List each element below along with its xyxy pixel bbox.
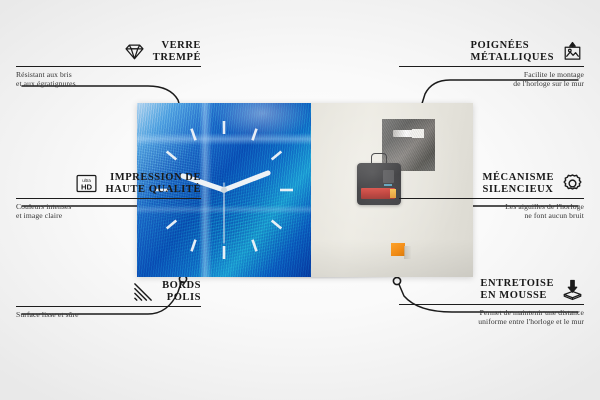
diamond-icon xyxy=(123,40,146,63)
foam-spacer-icon xyxy=(561,278,584,301)
hour-marker-4 xyxy=(272,221,282,229)
hour-marker-1 xyxy=(253,129,257,141)
infographic-canvas: VERRETREMPÉ Résistant aux briset aux égr… xyxy=(0,0,600,400)
feature-divider xyxy=(399,66,584,67)
feature-divider xyxy=(16,198,201,199)
feature-description: Résistant aux briset aux égratignures xyxy=(16,70,201,89)
feature-bords-polis[interactable]: BORDSPOLIS Surface lisse et sûre xyxy=(16,280,201,319)
feature-description: Permet de maintenir une distanceuniforme… xyxy=(399,308,584,327)
hour-marker-8 xyxy=(167,221,177,229)
clock-center-cap xyxy=(221,187,227,193)
minute-hand xyxy=(224,173,268,190)
feature-description: Surface lisse et sûre xyxy=(16,310,201,319)
hour-marker-10 xyxy=(167,152,177,160)
feature-verre-trempe[interactable]: VERRETREMPÉ Résistant aux briset aux égr… xyxy=(16,40,201,89)
picture-hook-icon xyxy=(561,40,584,63)
hour-marker-2 xyxy=(272,152,282,160)
feature-title: BORDSPOLIS xyxy=(162,280,201,303)
feature-impression-haute-qualite[interactable]: ultra HD IMPRESSION DEHAUTE QUALITÉ Coul… xyxy=(16,172,201,221)
hour-marker-11 xyxy=(192,129,196,141)
feature-description: Couleurs intenseset image claire xyxy=(16,202,201,221)
feature-description: Les aiguilles de l'horlogene font aucun … xyxy=(399,202,584,221)
feature-title: ENTRETOISEEN MOUSSE xyxy=(480,278,554,301)
feature-entretoise-en-mousse[interactable]: ENTRETOISEEN MOUSSE Permet de maintenir … xyxy=(399,278,584,327)
polished-edge-icon xyxy=(132,280,155,303)
feature-title: MÉCANISMESILENCIEUX xyxy=(483,172,554,195)
hour-marker-5 xyxy=(253,240,257,252)
feature-divider xyxy=(16,306,201,307)
feature-mecanisme-silencieux[interactable]: MÉCANISMESILENCIEUX Les aiguilles de l'h… xyxy=(399,172,584,221)
feature-poignees-metalliques[interactable]: POIGNÉESMÉTALLIQUES Facilite le montaged… xyxy=(399,40,584,89)
feature-divider xyxy=(399,304,584,305)
feature-divider xyxy=(399,198,584,199)
gear-icon xyxy=(561,172,584,195)
ultra-hd-icon: ultra HD xyxy=(75,172,98,195)
feature-divider xyxy=(16,66,201,67)
hour-marker-7 xyxy=(192,240,196,252)
feature-title: IMPRESSION DEHAUTE QUALITÉ xyxy=(105,172,201,195)
feature-title: VERRETREMPÉ xyxy=(153,40,201,63)
feature-title: POIGNÉESMÉTALLIQUES xyxy=(471,40,554,63)
svg-text:HD: HD xyxy=(81,182,93,191)
feature-description: Facilite le montagede l'horloge sur le m… xyxy=(399,70,584,89)
